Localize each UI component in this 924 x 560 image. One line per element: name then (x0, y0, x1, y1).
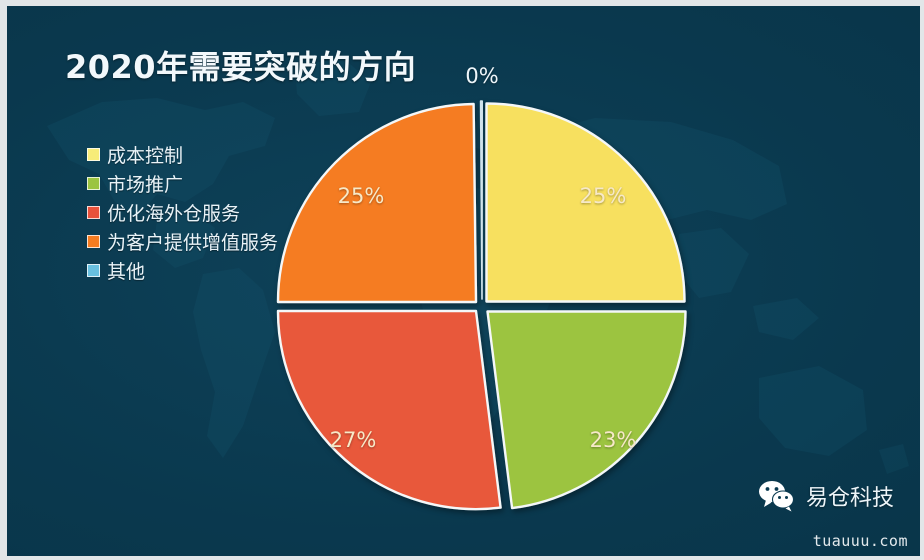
slide-canvas: 2020年需要突破的方向 成本控制 市场推广 优化海外仓服务 为客户提供增值服务 (0, 0, 924, 560)
slide-frame-border (0, 0, 924, 560)
